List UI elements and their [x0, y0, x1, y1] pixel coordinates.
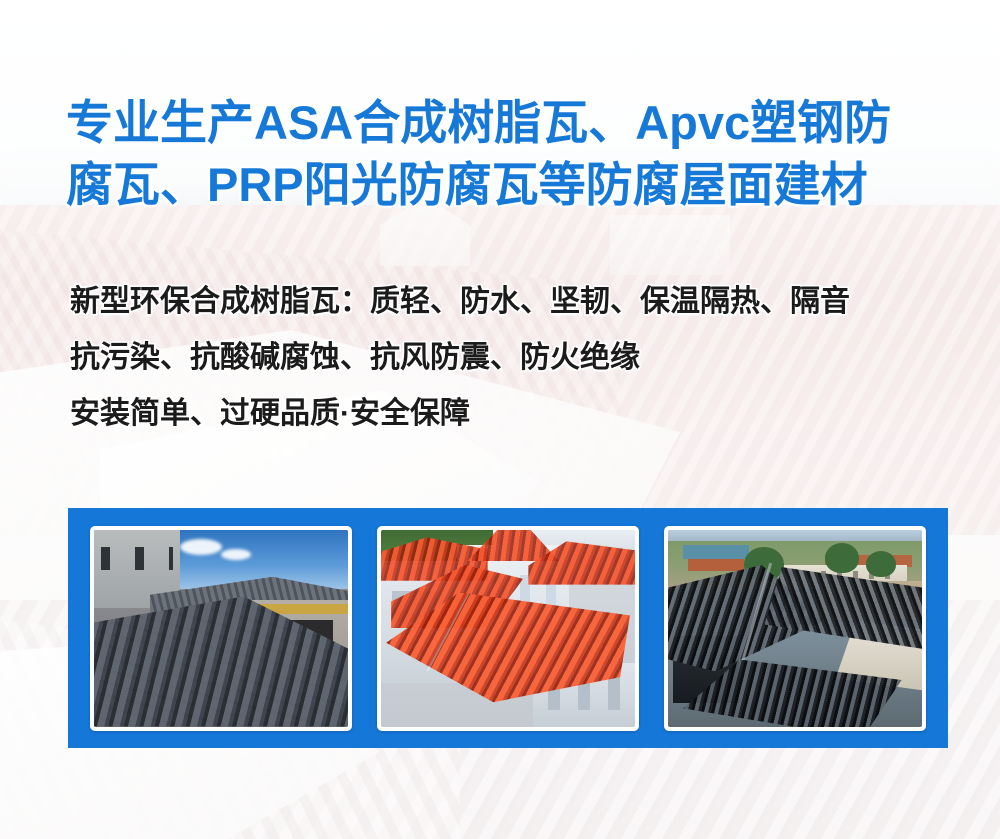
photo3-blue-shed-roof — [683, 545, 749, 559]
feature-line-2: 抗污染、抗酸碱腐蚀、抗风防震、防火绝缘 — [70, 330, 960, 386]
photo3-tree — [825, 543, 859, 573]
headline-line-1: 专业生产ASA合成树脂瓦、Apvc塑钢防 — [66, 92, 956, 154]
feature-line-3: 安装简单、过硬品质·安全保障 — [70, 386, 960, 442]
photo-gallery-panel — [68, 508, 948, 748]
black-resin-tile-roof-photo — [668, 530, 922, 727]
grey-resin-tile-roof-photo — [94, 530, 348, 727]
photo-frame-1[interactable] — [90, 526, 352, 731]
feature-text-block: 新型环保合成树脂瓦：质轻、防水、坚韧、保温隔热、隔音 抗污染、抗酸碱腐蚀、抗风防… — [70, 274, 960, 442]
headline-line-2: 腐瓦、PRP阳光防腐瓦等防腐屋面建材 — [66, 154, 956, 216]
photo-frame-2[interactable] — [377, 526, 639, 731]
photo3-village-roof-a — [688, 559, 744, 571]
photo3-tree — [866, 551, 896, 577]
feature-line-1: 新型环保合成树脂瓦：质轻、防水、坚韧、保温隔热、隔音 — [70, 274, 960, 330]
banner-content: 专业生产ASA合成树脂瓦、Apvc塑钢防 腐瓦、PRP阳光防腐瓦等防腐屋面建材 … — [0, 0, 1000, 839]
photo-frame-3[interactable] — [664, 526, 926, 731]
product-banner: 专业生产ASA合成树脂瓦、Apvc塑钢防 腐瓦、PRP阳光防腐瓦等防腐屋面建材 … — [0, 0, 1000, 839]
red-resin-tile-roof-photo — [381, 530, 635, 727]
headline: 专业生产ASA合成树脂瓦、Apvc塑钢防 腐瓦、PRP阳光防腐瓦等防腐屋面建材 — [66, 92, 956, 216]
